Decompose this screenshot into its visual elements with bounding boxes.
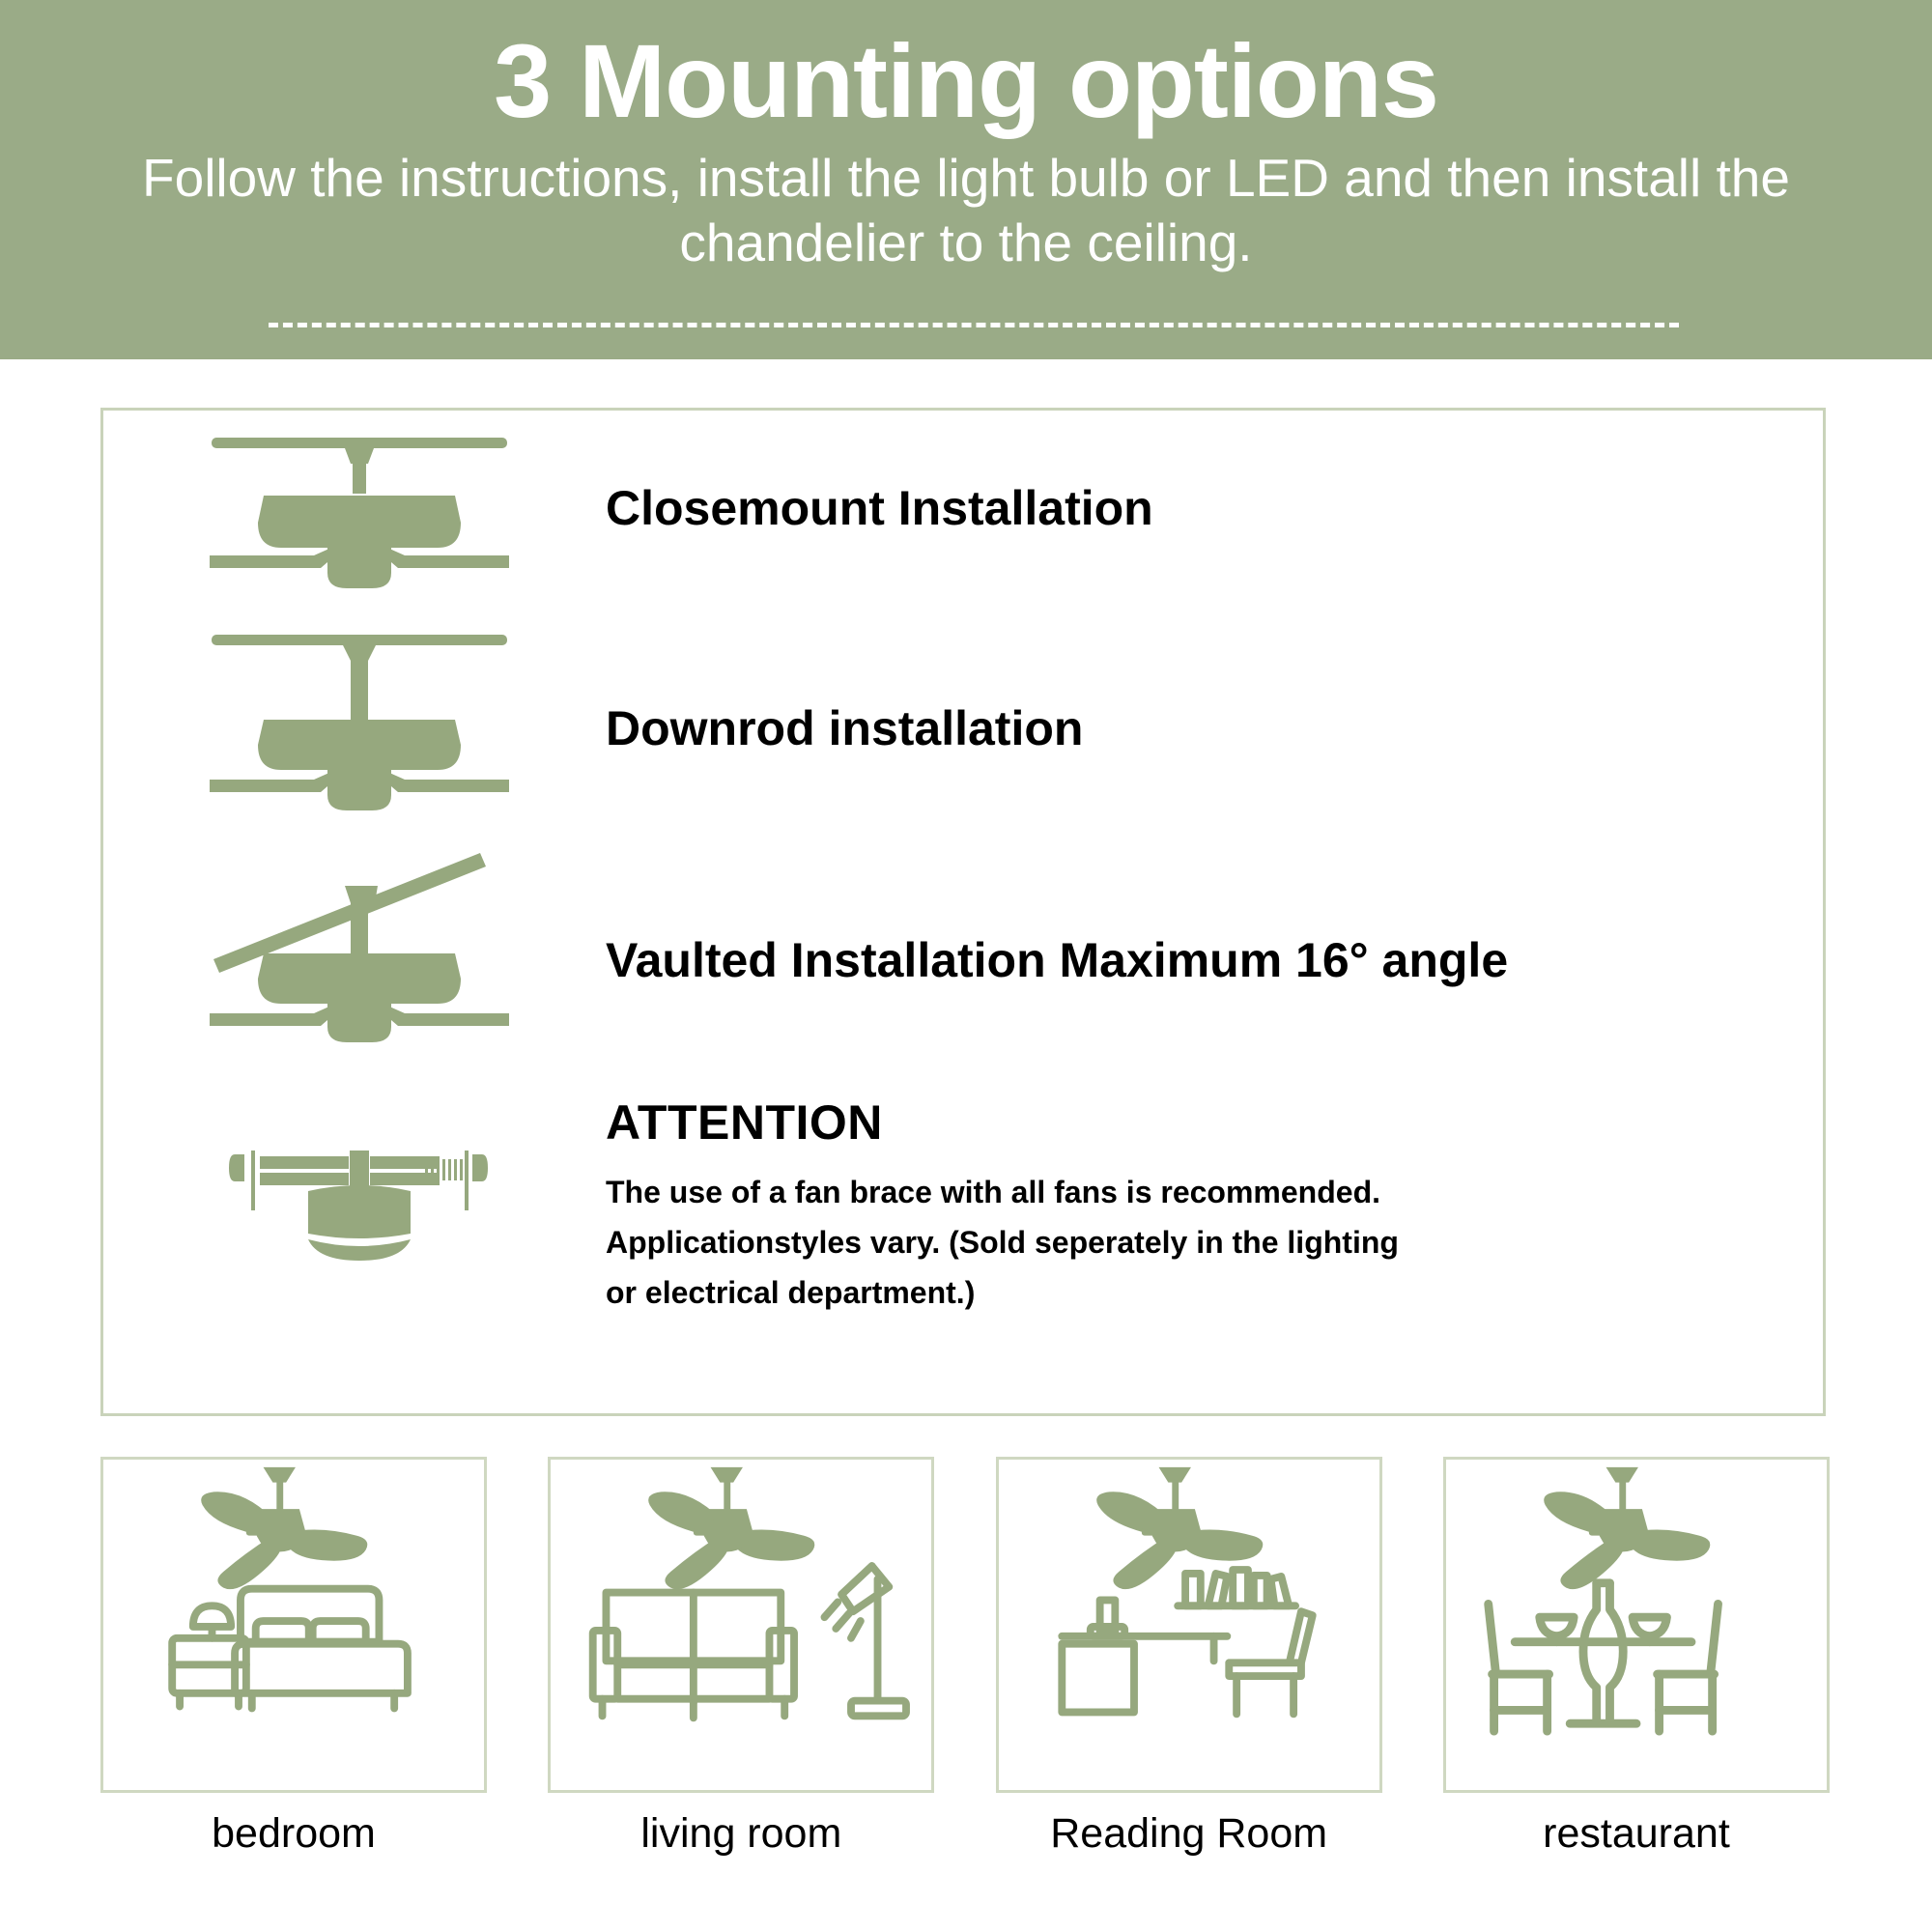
header-banner: 3 Mounting options Follow the instructio… bbox=[0, 0, 1932, 359]
mounting-label-closemount: Closemount Installation bbox=[606, 480, 1153, 536]
room-card-living-room[interactable]: living room bbox=[548, 1457, 934, 1843]
room-card-label: living room bbox=[548, 1793, 934, 1858]
page-subtitle: Follow the instructions, install the lig… bbox=[72, 138, 1860, 275]
room-card-frame bbox=[1443, 1457, 1830, 1793]
room-card-frame bbox=[548, 1457, 934, 1793]
fan-brace-icon bbox=[190, 1108, 528, 1282]
room-card-label: bedroom bbox=[100, 1793, 487, 1858]
attention-line: or electrical department.) bbox=[606, 1263, 1765, 1313]
attention-text-block: ATTENTION The use of a fan brace with al… bbox=[606, 1094, 1765, 1314]
mounting-label-vaulted: Vaulted Installation Maximum 16° angle bbox=[606, 932, 1508, 988]
room-card-label: restaurant bbox=[1443, 1793, 1830, 1858]
room-card-reading-room[interactable]: Reading Room bbox=[996, 1457, 1382, 1843]
mounting-row-closemount: Closemount Installation bbox=[103, 420, 1823, 623]
mounting-row-attention: ATTENTION The use of a fan brace with al… bbox=[103, 1087, 1823, 1377]
reading-room-scene-icon bbox=[999, 1460, 1379, 1790]
attention-line: Applicationstyles vary. (Sold seperately… bbox=[606, 1212, 1765, 1263]
ceiling-fan-closemount-icon bbox=[190, 420, 528, 623]
mounting-row-vaulted: Vaulted Installation Maximum 16° angle bbox=[103, 845, 1823, 1048]
mounting-options-panel: Closemount Installation Downrod installa… bbox=[100, 408, 1826, 1416]
mounting-label-downrod: Downrod installation bbox=[606, 700, 1083, 756]
room-card-bedroom[interactable]: bedroom bbox=[100, 1457, 487, 1843]
header-dashed-divider bbox=[269, 323, 1679, 327]
bedroom-scene-icon bbox=[103, 1460, 484, 1790]
living-room-scene-icon bbox=[551, 1460, 931, 1790]
mounting-row-downrod: Downrod installation bbox=[103, 625, 1823, 828]
attention-heading: ATTENTION bbox=[606, 1094, 1765, 1151]
ceiling-fan-downrod-icon bbox=[190, 625, 528, 828]
room-cards-row: bedroom bbox=[100, 1457, 1830, 1843]
room-card-frame bbox=[100, 1457, 487, 1793]
room-card-frame bbox=[996, 1457, 1382, 1793]
page-title: 3 Mounting options bbox=[0, 0, 1932, 138]
ceiling-fan-vaulted-icon bbox=[190, 845, 528, 1048]
attention-line: The use of a fan brace with all fans is … bbox=[606, 1151, 1765, 1212]
room-card-label: Reading Room bbox=[996, 1793, 1382, 1858]
room-card-restaurant[interactable]: restaurant bbox=[1443, 1457, 1830, 1843]
restaurant-scene-icon bbox=[1446, 1460, 1827, 1790]
